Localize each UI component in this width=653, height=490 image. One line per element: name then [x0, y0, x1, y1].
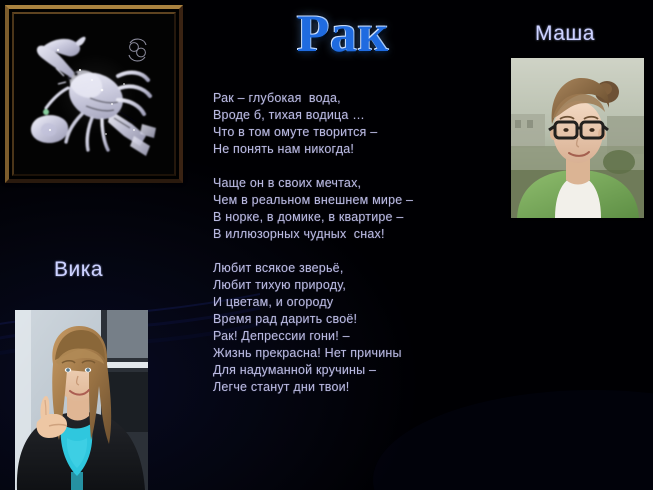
photo-masha: [511, 58, 644, 218]
poem-stanza-3: Любит всякое зверьё, Любит тихую природу…: [213, 260, 503, 396]
poem-line: В норке, в домике, в квартире –: [213, 209, 503, 226]
caption-masha: Маша: [535, 22, 595, 46]
poem-line: И цветам, и огороду: [213, 294, 503, 311]
photo-masha-image: [511, 58, 644, 218]
presentation-slide: Рак Рак – глубокая вода, Вроде б, тихая …: [0, 0, 653, 490]
poem-line: Не понять нам никогда!: [213, 141, 503, 158]
poem-line: Чем в реальном внешнем мире –: [213, 192, 503, 209]
poem-line: Рак – глубокая вода,: [213, 90, 503, 107]
poem-stanza-2: Чаще он в своих мечтах, Чем в реальном в…: [213, 175, 503, 243]
poem-line: Любит тихую природу,: [213, 277, 503, 294]
poem-line: Для надуманной кручины –: [213, 362, 503, 379]
zodiac-picture-inner: [12, 12, 176, 176]
poem-line: Легче станут дни твои!: [213, 379, 503, 396]
poem-line: Рак! Депрессии гони! –: [213, 328, 503, 345]
zodiac-picture-frame: [5, 5, 183, 183]
poem-stanza-1: Рак – глубокая вода, Вроде б, тихая води…: [213, 90, 503, 158]
poem-line: Жизнь прекрасна! Нет причины: [213, 345, 503, 362]
caption-vika: Вика: [54, 258, 103, 282]
poem-line: Время рад дарить своё!: [213, 311, 503, 328]
cancer-crayfish-illustration: [14, 14, 174, 174]
poem-text: Рак – глубокая вода, Вроде б, тихая води…: [213, 90, 503, 396]
poem-line: Что в том омуте творится –: [213, 124, 503, 141]
poem-line: Вроде б, тихая водица …: [213, 107, 503, 124]
slide-title: Рак: [248, 2, 438, 66]
photo-vika-image: [15, 310, 148, 490]
poem-line: В иллюзорных чудных снах!: [213, 226, 503, 243]
photo-vika: [15, 310, 148, 490]
poem-line: Любит всякое зверьё,: [213, 260, 503, 277]
poem-line: Чаще он в своих мечтах,: [213, 175, 503, 192]
